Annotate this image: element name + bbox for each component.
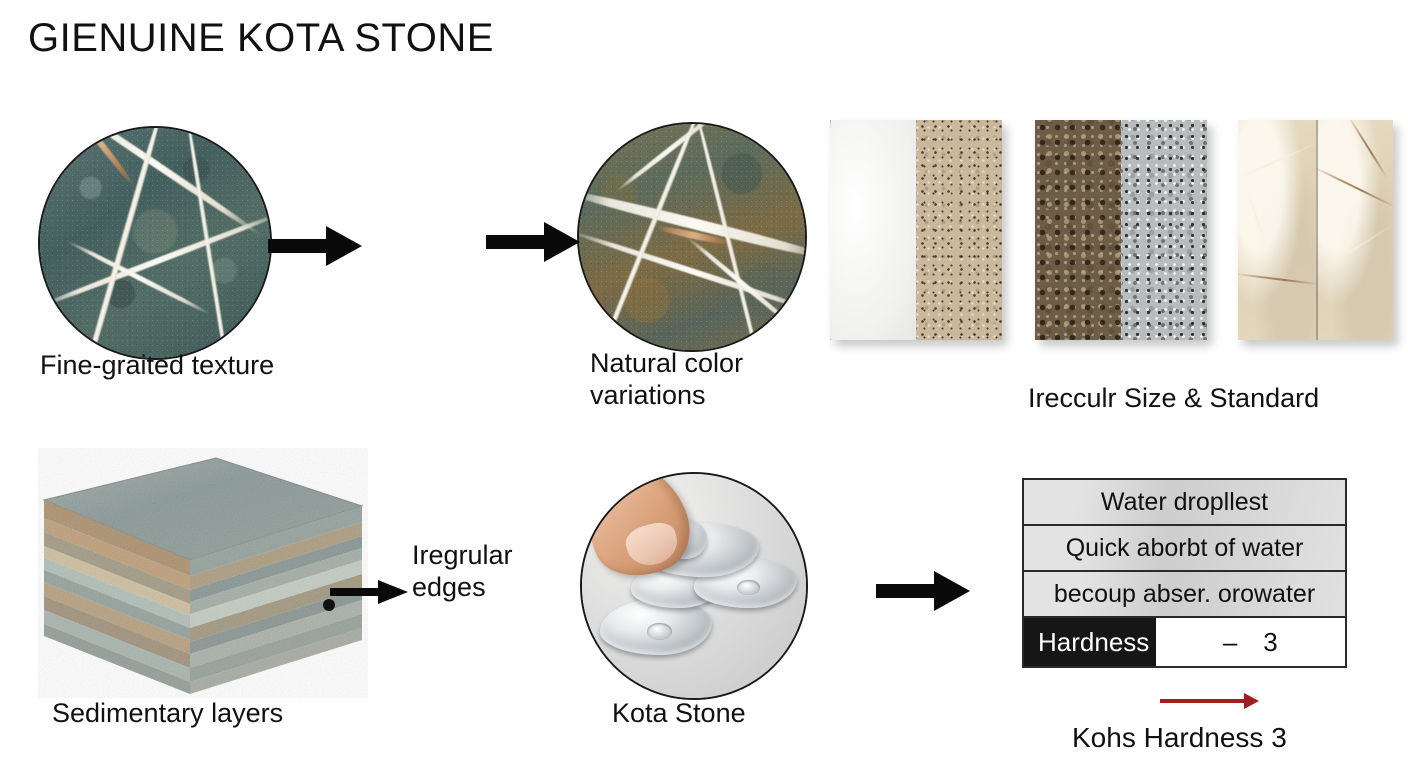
hardness-dash: – bbox=[1223, 627, 1237, 658]
water-droplet-circle bbox=[580, 472, 808, 700]
sedimentary-stone-block bbox=[38, 448, 368, 698]
row-label: becoup abser. orowater bbox=[1054, 580, 1315, 609]
page-title: GIENUINE KOTA STONE bbox=[28, 16, 494, 61]
row-label: Water dropllest bbox=[1101, 488, 1268, 517]
size-standard-caption: Irecculr Size & Standard bbox=[1028, 383, 1388, 415]
arrow-right-icon-irregular-edges bbox=[330, 578, 410, 606]
hardness-label-cell: Hardness bbox=[1024, 618, 1156, 666]
fine-grain-texture-circle bbox=[38, 126, 272, 360]
slab-finish-cream-marble-right bbox=[1316, 120, 1394, 340]
fine-grain-caption: Fine-graited texture bbox=[40, 350, 360, 382]
irregular-edges-callout: Iregrular edges bbox=[412, 540, 592, 604]
color-variation-circle bbox=[577, 122, 807, 352]
slab-finish-gray-speckle bbox=[1121, 120, 1207, 340]
sedimentary-caption: Sedimentary layers bbox=[52, 698, 392, 730]
table-row-quick-absorb: Quick aborbt of water bbox=[1024, 526, 1345, 572]
color-variation-caption: Natural color variations bbox=[590, 348, 820, 412]
table-row-hardness: Hardness – 3 bbox=[1024, 618, 1345, 666]
hardness-table: Water dropllest Quick aborbt of water be… bbox=[1022, 478, 1347, 668]
slab-finish-brown-aggregate bbox=[1035, 120, 1121, 340]
table-row-water-droplets: Water dropllest bbox=[1024, 480, 1345, 526]
slab-finish-white-marble bbox=[830, 120, 916, 340]
slab-finish-beige-speckle bbox=[916, 120, 1002, 340]
fingernail bbox=[622, 517, 682, 569]
arrow-right-icon-1 bbox=[268, 222, 364, 270]
hardness-value-cell: – 3 bbox=[1156, 618, 1345, 666]
hardness-value: 3 bbox=[1263, 627, 1277, 658]
kota-stone-caption: Kota Stone bbox=[612, 698, 872, 730]
arrow-right-icon-2 bbox=[486, 218, 582, 266]
row-label: Quick aborbt of water bbox=[1066, 534, 1304, 563]
kohs-hardness-caption: Kohs Hardness 3 bbox=[1072, 721, 1402, 754]
slab-finish-cream-marble-left bbox=[1238, 120, 1316, 340]
table-row-absorption: becoup abser. orowater bbox=[1024, 572, 1345, 618]
slab-sample-2 bbox=[1035, 120, 1207, 340]
arrow-right-icon-3 bbox=[876, 567, 972, 615]
slab-sample-3 bbox=[1238, 120, 1393, 340]
slab-sample-1 bbox=[830, 120, 1002, 340]
arrow-right-icon-red bbox=[1160, 690, 1260, 712]
